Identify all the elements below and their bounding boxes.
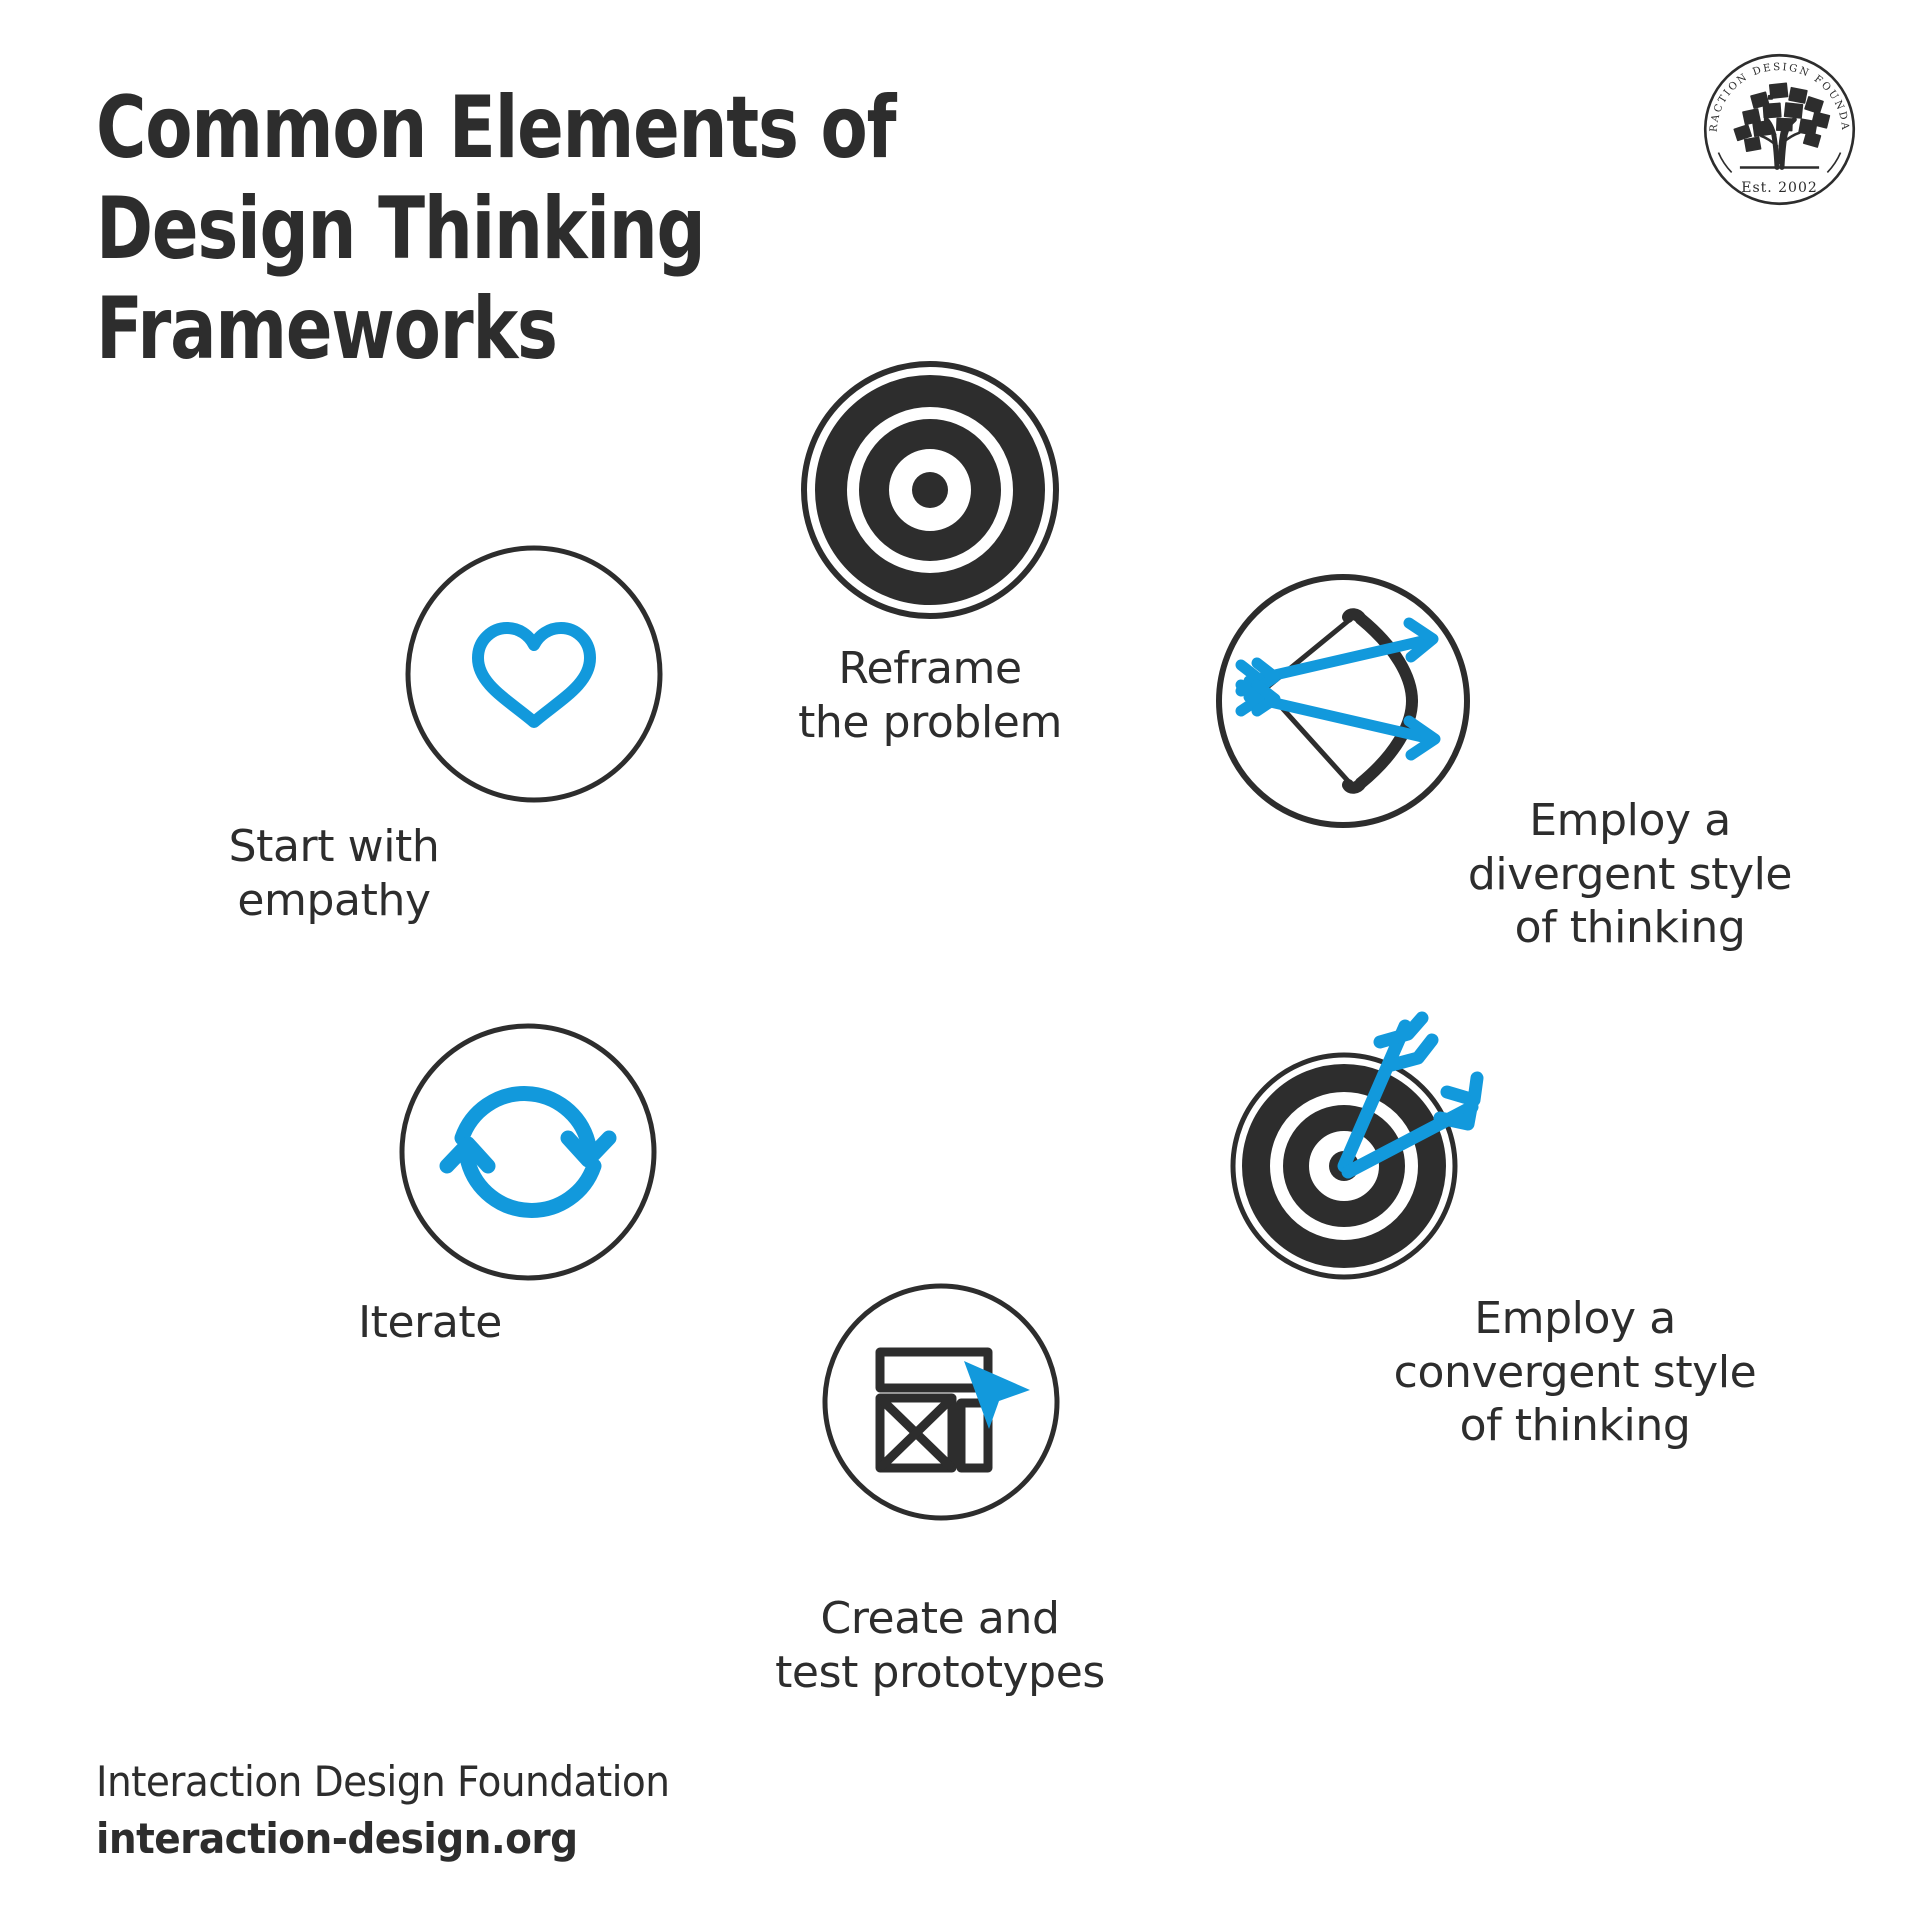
bullseye-with-arrows-icon (1228, 990, 1488, 1290)
node-prototypes-label: Create and test prototypes (710, 1592, 1170, 1699)
footer-organization: Interaction Design Foundation (96, 1756, 669, 1807)
svg-text:Est. 2002: Est. 2002 (1741, 180, 1818, 196)
node-reframe-label: Reframe the problem (700, 642, 1160, 749)
bow-and-arrows-diverging-icon (1215, 573, 1471, 829)
footer-url[interactable]: interaction-design.org (96, 1813, 669, 1866)
page-title: Common Elements of Design Thinking Frame… (96, 78, 1136, 380)
interaction-design-foundation-logo: INTERACTION DESIGN FOUNDATION (1697, 47, 1862, 212)
bullseye-target-icon (800, 360, 1060, 620)
node-empathy-label: Start with empathy (174, 820, 494, 927)
node-convergent-label: Employ a convergent style of thinking (1295, 1292, 1855, 1453)
node-divergent-label: Employ a divergent style of thinking (1350, 794, 1910, 955)
footer: Interaction Design Foundation interactio… (96, 1756, 713, 1866)
circular-arrows-loop-icon (398, 1022, 658, 1282)
infographic-canvas: Common Elements of Design Thinking Frame… (0, 0, 1920, 1930)
wireframe-cursor-icon (822, 1283, 1060, 1521)
heart-icon (404, 544, 664, 804)
node-iterate-label: Iterate (300, 1296, 560, 1350)
